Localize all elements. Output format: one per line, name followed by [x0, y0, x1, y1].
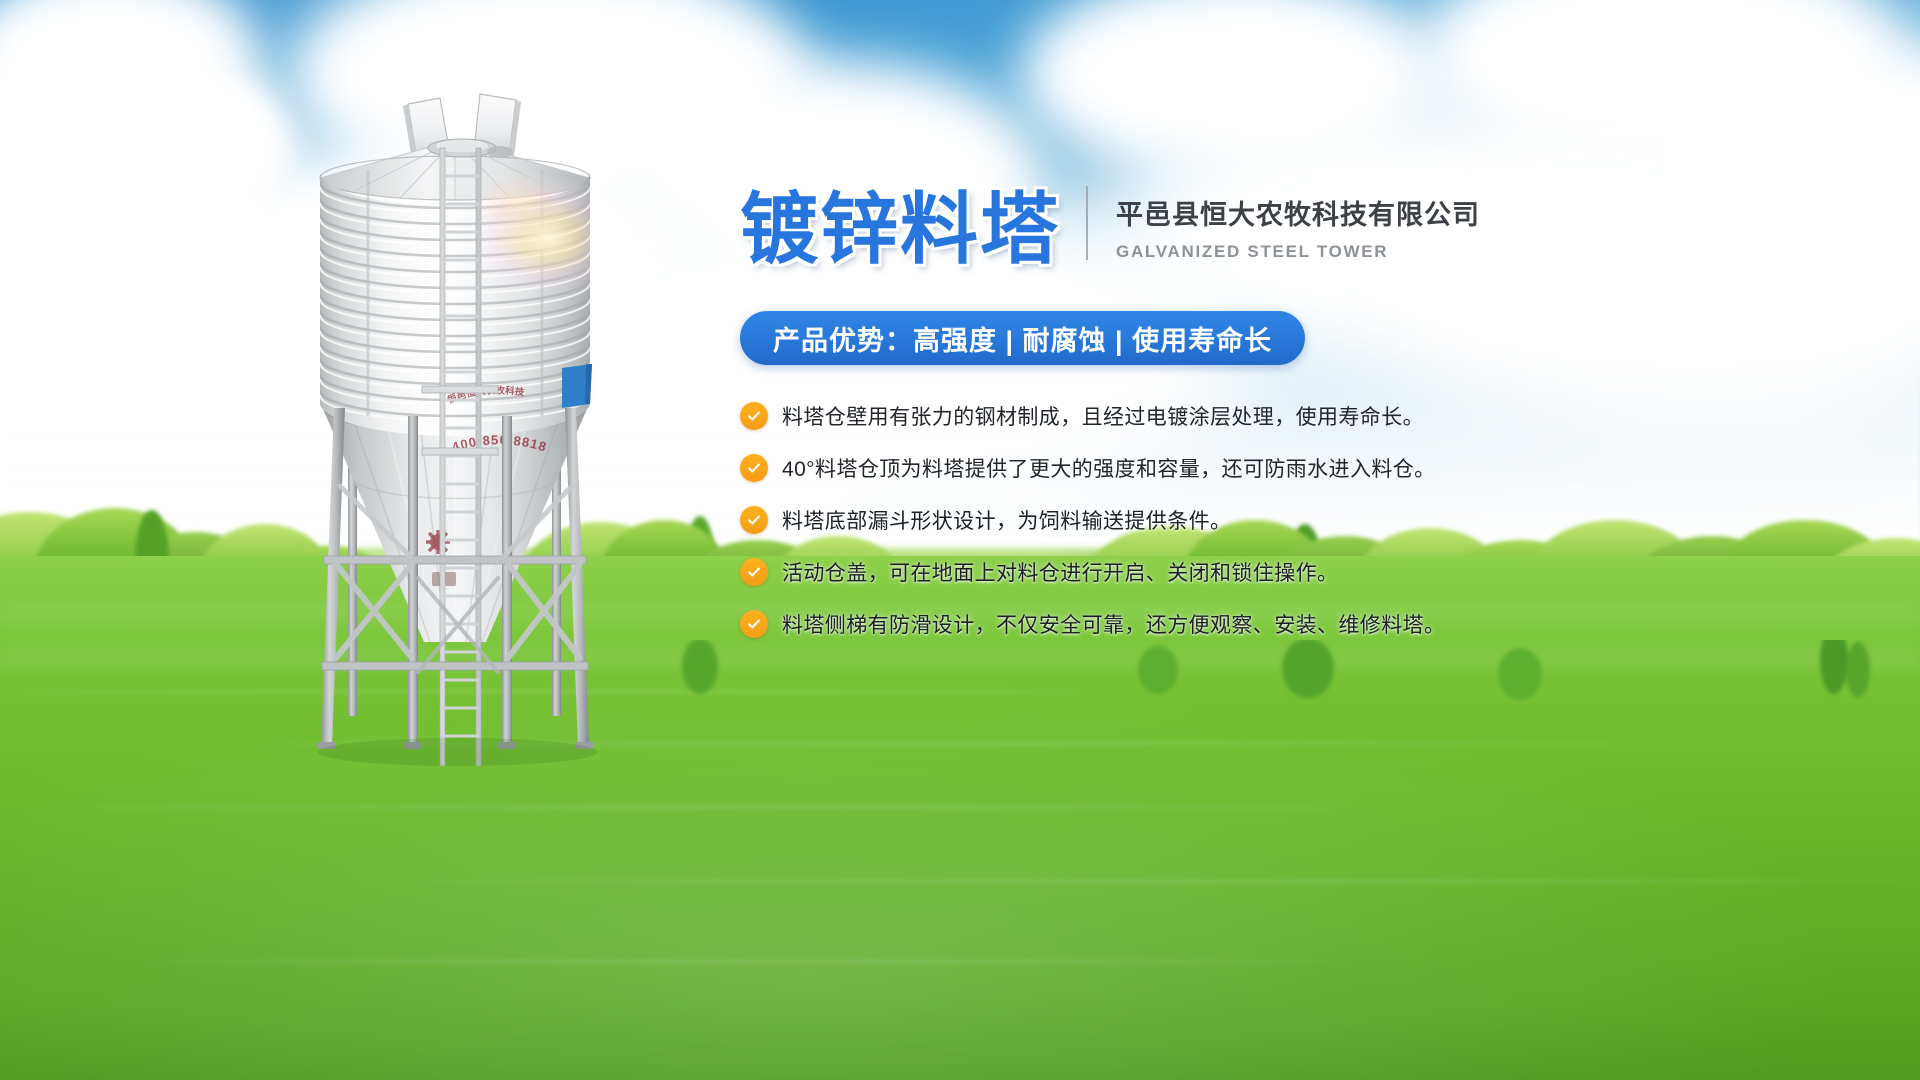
feature-list: 料塔仓壁用有张力的钢材制成，且经过电镀涂层处理，使用寿命长。 40°料塔仓顶为料… — [740, 395, 1860, 644]
feature-text: 活动仓盖，可在地面上对料仓进行开启、关闭和锁住操作。 — [782, 557, 1338, 587]
check-circle-icon — [740, 506, 768, 534]
company-name: 平邑县恒大农牧科技有限公司 — [1116, 199, 1480, 231]
advantage-badge: 产品优势：高强度 | 耐腐蚀 | 使用寿命长 — [740, 311, 1305, 365]
feature-item: 料塔仓壁用有张力的钢材制成，且经过电镀涂层处理，使用寿命长。 — [740, 395, 1860, 436]
banner-content: 镀锌料塔 平邑县恒大农牧科技有限公司 GALVANIZED STEEL TOWE… — [740, 186, 1860, 655]
foreground-shrubs — [0, 640, 1920, 760]
feature-text: 料塔底部漏斗形状设计，为饲料输送提供条件。 — [782, 505, 1231, 535]
product-banner: 恒邑恒大农牧科技 400-850-8818 — [0, 0, 1920, 1080]
title-meta: 平邑县恒大农牧科技有限公司 GALVANIZED STEEL TOWER — [1116, 199, 1480, 268]
galvanized-feed-silo: 恒邑恒大农牧科技 400-850-8818 — [290, 86, 620, 766]
feature-item: 料塔侧梯有防滑设计，不仅安全可靠，还方便观察、安装、维修料塔。 — [740, 603, 1860, 644]
silo-discharge-boot — [562, 364, 592, 408]
feature-text: 料塔侧梯有防滑设计，不仅安全可靠，还方便观察、安装、维修料塔。 — [782, 609, 1445, 639]
feature-text: 40°料塔仓顶为料塔提供了更大的强度和容量，还可防雨水进入料仓。 — [782, 453, 1436, 483]
feature-text: 料塔仓壁用有张力的钢材制成，且经过电镀涂层处理，使用寿命长。 — [782, 401, 1424, 431]
check-circle-icon — [740, 558, 768, 586]
page-title: 镀锌料塔 — [740, 190, 1060, 268]
check-circle-icon — [740, 454, 768, 482]
silo-logo-mark — [426, 530, 450, 554]
check-circle-icon — [740, 610, 768, 638]
silo-svg: 恒邑恒大农牧科技 400-850-8818 — [290, 86, 620, 766]
feature-item: 40°料塔仓顶为料塔提供了更大的强度和容量，还可防雨水进入料仓。 — [740, 447, 1860, 488]
silo-ground-shadow — [318, 738, 598, 766]
title-row: 镀锌料塔 平邑县恒大农牧科技有限公司 GALVANIZED STEEL TOWE… — [740, 186, 1860, 268]
feature-item: 料塔底部漏斗形状设计，为饲料输送提供条件。 — [740, 499, 1860, 540]
title-divider — [1086, 186, 1088, 260]
check-circle-icon — [740, 402, 768, 430]
feature-item: 活动仓盖，可在地面上对料仓进行开启、关闭和锁住操作。 — [740, 551, 1860, 592]
english-subtitle: GALVANIZED STEEL TOWER — [1116, 242, 1480, 262]
